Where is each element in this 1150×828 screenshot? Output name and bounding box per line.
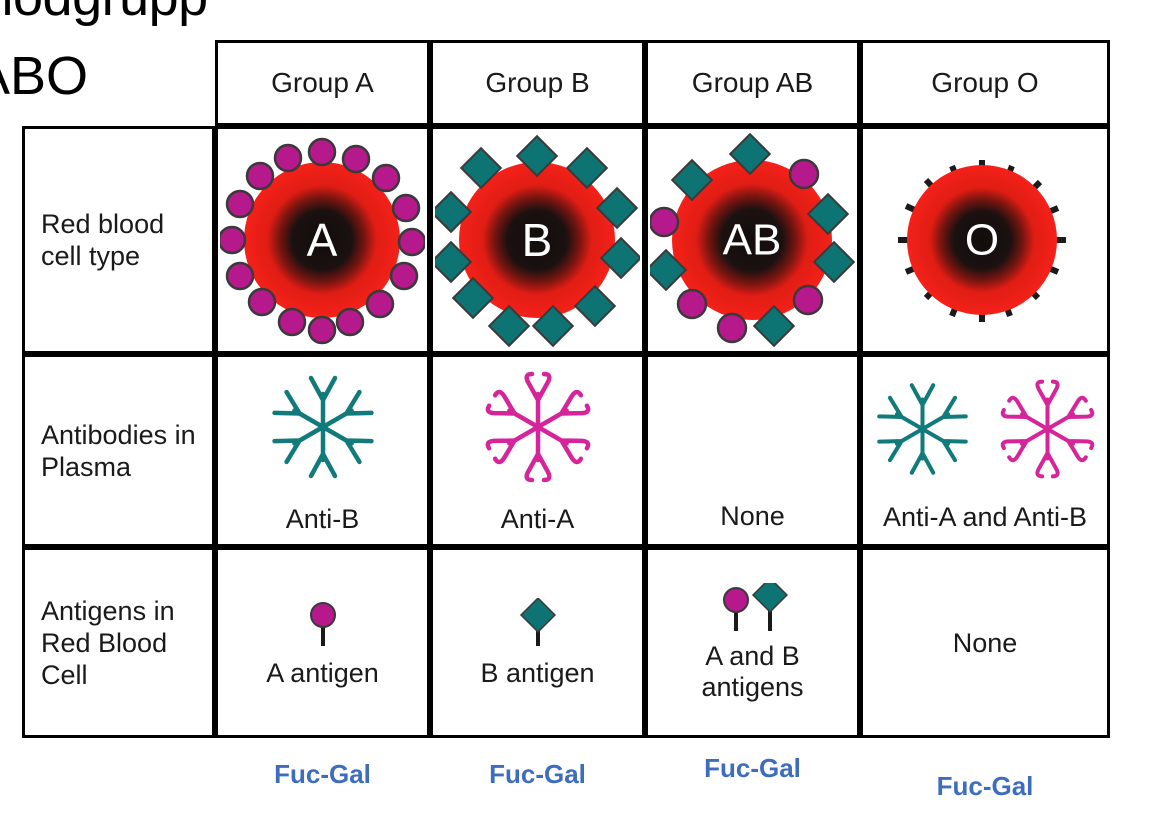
- anti-a-antibody-cluster-icon: [985, 370, 1110, 488]
- red-blood-cell-o-icon: O: [878, 130, 1093, 350]
- anti-b-antibody-cluster-icon: [860, 370, 985, 488]
- antigen-caption-line1: A and B: [705, 641, 800, 672]
- fuc-gal-spacer: [22, 741, 215, 801]
- antigens-group-a: A antigen: [215, 547, 430, 738]
- fuc-gal-label-group-o: Fuc-Gal: [860, 741, 1110, 801]
- antibody-caption: None: [720, 501, 785, 531]
- table-corner-cell: [22, 40, 215, 126]
- rbc-group-a: A: [215, 126, 430, 354]
- red-blood-cell-ab-icon: AB: [650, 130, 855, 350]
- column-header-group-a: Group A: [215, 40, 430, 126]
- page-title-line1: Blodgrupp: [0, 0, 208, 24]
- column-header-label: Group B: [485, 67, 589, 99]
- b-antigen-marker-icon: [508, 598, 568, 656]
- antibody-caption: Anti-A and Anti-B: [883, 502, 1087, 532]
- anti-b-antibody-cluster-icon: [253, 368, 393, 486]
- antigen-caption: None: [953, 628, 1018, 658]
- row-label-text: Antibodies in Plasma: [25, 419, 212, 483]
- abo-table: Group A Group B Group AB Group O Red blo…: [22, 40, 1110, 738]
- table-row-antigens-in-red-blood-cell: Antigens in Red Blood Cell A antigen: [22, 547, 1110, 738]
- column-header-group-ab: Group AB: [645, 40, 860, 126]
- table-row-red-blood-cell-type: Red blood cell type: [22, 126, 1110, 354]
- rbc-group-b: B: [430, 126, 645, 354]
- antigen-caption-line2: antigens: [701, 672, 803, 703]
- antibodies-group-a: Anti-B: [215, 354, 430, 547]
- antigen-caption: A antigen: [266, 658, 379, 688]
- row-label-red-blood-cell-type: Red blood cell type: [22, 126, 215, 354]
- fuc-gal-label-group-a: Fuc-Gal: [215, 741, 430, 801]
- rbc-group-o: O: [860, 126, 1110, 354]
- antibodies-group-b: Anti-A: [430, 354, 645, 547]
- abo-blood-group-figure: Blodgrupp ABO Group A Group B Group AB G…: [0, 0, 1150, 828]
- rbc-letter-b: B: [522, 214, 553, 266]
- antibodies-group-o: Anti-A and Anti-B: [860, 354, 1110, 547]
- rbc-letter-a: A: [307, 214, 338, 266]
- antigen-caption: B antigen: [480, 658, 594, 688]
- a-and-b-antigen-markers-icon: [708, 583, 798, 641]
- column-header-group-o: Group O: [860, 40, 1110, 126]
- table-header-row: Group A Group B Group AB Group O: [22, 40, 1110, 126]
- table-row-antibodies-in-plasma: Antibodies in Plasma: [22, 354, 1110, 547]
- column-header-label: Group AB: [692, 67, 813, 99]
- fuc-gal-label-group-b: Fuc-Gal: [430, 741, 645, 801]
- antibody-caption: Anti-B: [286, 504, 360, 534]
- antibody-caption: Anti-A: [501, 504, 575, 534]
- a-antigen-marker-icon: [293, 598, 353, 656]
- antigens-group-b: B antigen: [430, 547, 645, 738]
- rbc-group-ab: AB: [645, 126, 860, 354]
- column-header-label: Group A: [271, 67, 374, 99]
- column-header-label: Group O: [931, 67, 1038, 99]
- antibodies-group-ab: None: [645, 354, 860, 547]
- rbc-letter-ab: AB: [723, 216, 782, 265]
- row-label-antibodies-in-plasma: Antibodies in Plasma: [22, 354, 215, 547]
- column-header-group-b: Group B: [430, 40, 645, 126]
- antigens-group-o: None: [860, 547, 1110, 738]
- anti-a-antibody-cluster-icon: [468, 368, 608, 486]
- fuc-gal-label-group-ab: Fuc-Gal: [645, 741, 860, 801]
- fuc-gal-footnote-strip: Fuc-Gal Fuc-Gal Fuc-Gal Fuc-Gal: [22, 741, 1110, 801]
- rbc-letter-o: O: [964, 216, 998, 265]
- red-blood-cell-a-icon: A: [220, 130, 425, 350]
- page-title-clipped: Blodgrupp: [0, 0, 215, 40]
- row-label-text: Antigens in Red Blood Cell: [25, 595, 212, 691]
- row-label-text: Red blood cell type: [25, 208, 212, 272]
- antigens-group-ab: A and B antigens: [645, 547, 860, 738]
- red-blood-cell-b-icon: B: [435, 130, 640, 350]
- row-label-antigens-in-red-blood-cell: Antigens in Red Blood Cell: [22, 547, 215, 738]
